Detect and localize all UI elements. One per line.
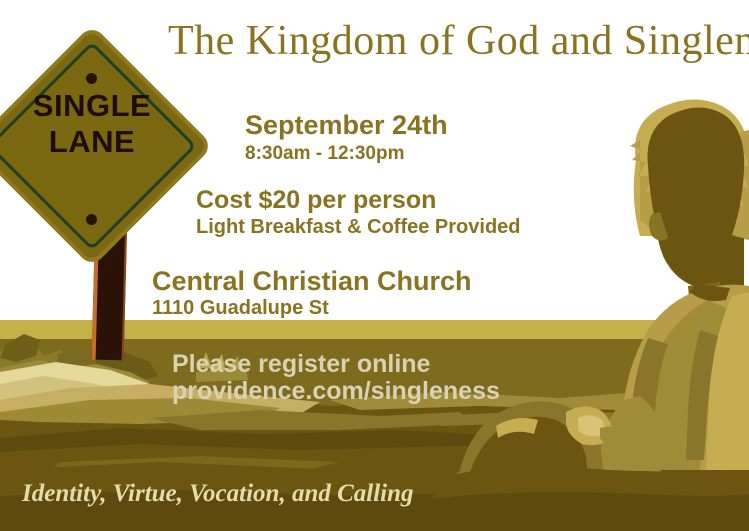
- event-flyer: SINGLE LANE The Kingdom of God and Singl…: [0, 0, 749, 531]
- event-address: 1110 Guadalupe St: [152, 297, 329, 320]
- event-meal-note: Light Breakfast & Coffee Provided: [196, 216, 521, 239]
- event-time: 8:30am - 12:30pm: [245, 143, 404, 165]
- register-url[interactable]: providence.com/singleness: [172, 377, 500, 406]
- sign-text-line1: SINGLE: [16, 88, 168, 124]
- sign-text: SINGLE LANE: [16, 88, 168, 160]
- event-cost: Cost $20 per person: [196, 186, 436, 215]
- register-prompt: Please register online: [172, 350, 430, 379]
- flyer-tagline: Identity, Virtue, Vocation, and Calling: [22, 480, 414, 508]
- sign-bolt-top-icon: [86, 73, 97, 84]
- event-venue: Central Christian Church: [152, 266, 472, 297]
- body-ground-blend-dark: [410, 492, 749, 531]
- sign-bolt-bottom-icon: [86, 214, 97, 225]
- event-date: September 24th: [245, 110, 448, 141]
- sign-text-line2: LANE: [16, 124, 168, 160]
- flyer-title: The Kingdom of God and Singleness: [168, 16, 743, 66]
